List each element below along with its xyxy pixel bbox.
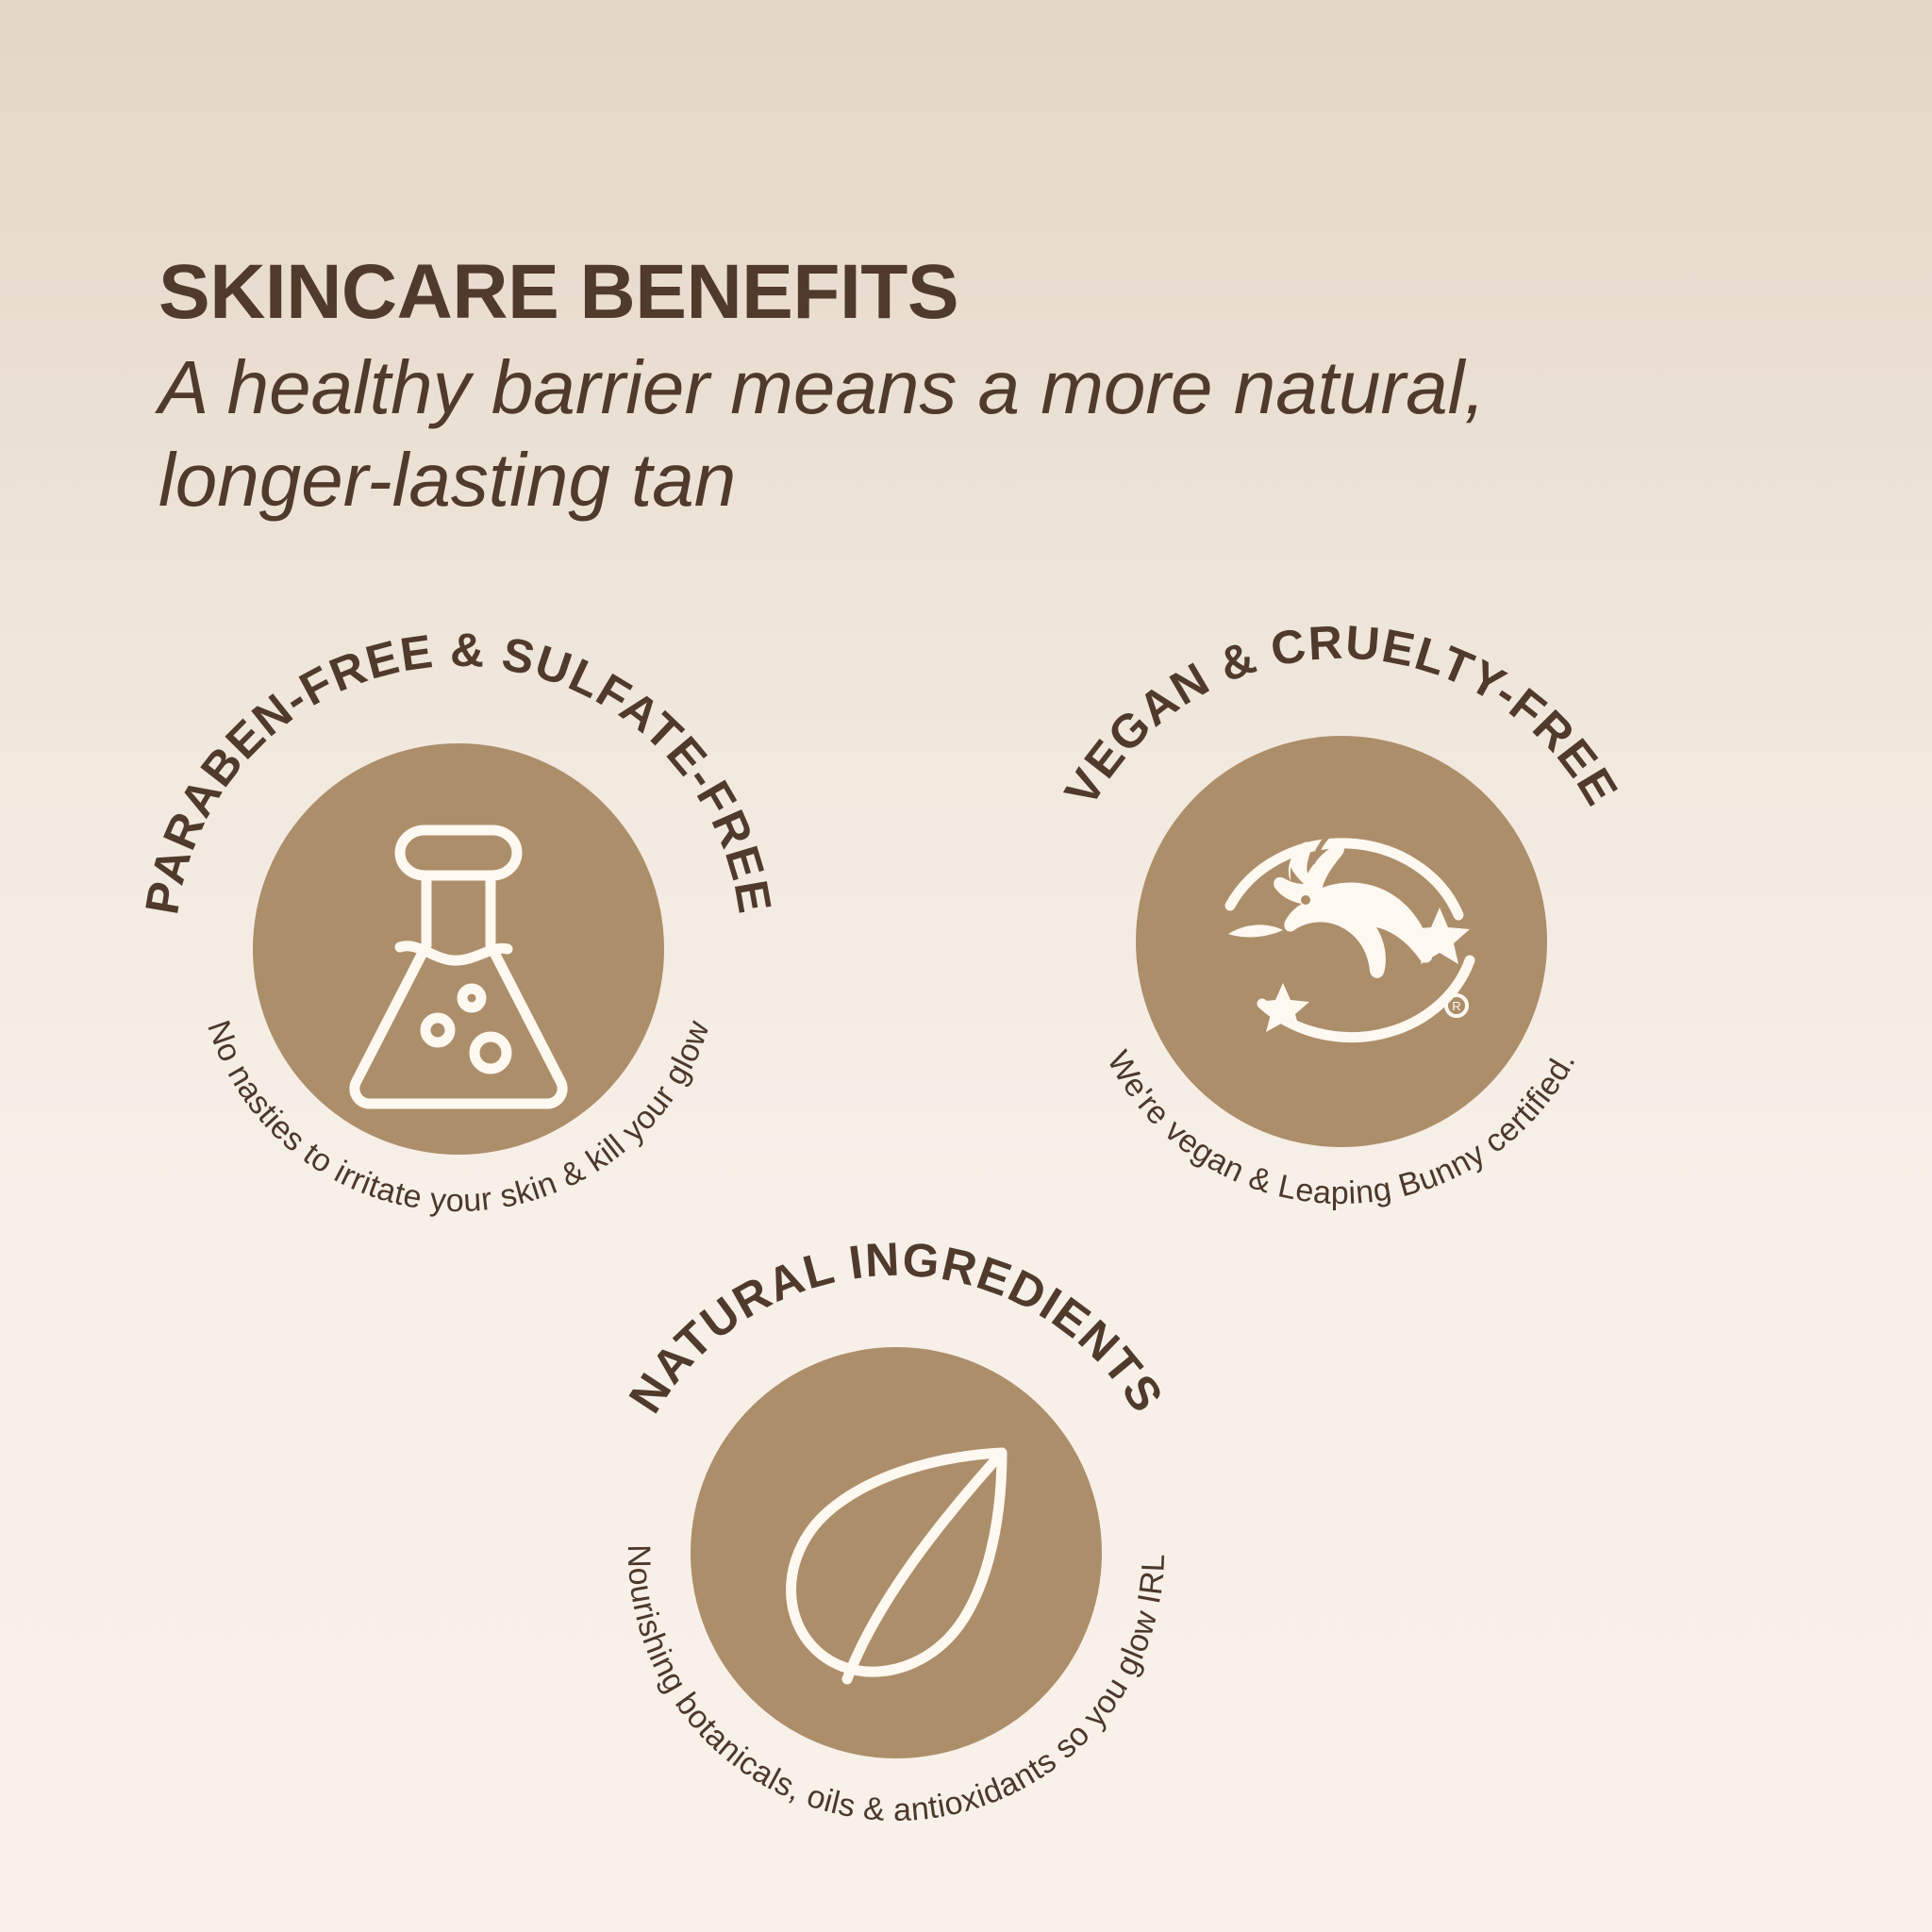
svg-text:R: R	[1452, 999, 1460, 1013]
page-title: SKINCARE BENEFITS	[158, 253, 1574, 332]
badge-disc	[691, 1347, 1102, 1758]
badge-disc	[253, 743, 664, 1155]
header: SKINCARE BENEFITS A healthy barrier mean…	[158, 253, 1574, 526]
badge-natural-ingredients: NATURAL INGREDIENTS Nourishing botanical…	[604, 1260, 1189, 1845]
badge-paraben-free-sulfate-free: PARABEN-FREE & SULFATE-FREE No nasties t…	[166, 657, 751, 1241]
skincare-benefits-panel: SKINCARE BENEFITS A healthy barrier mean…	[0, 0, 1932, 1932]
badge-vegan-cruelty-free: VEGAN & CRUELTY-FREE We're vegan & Leapi…	[1049, 649, 1634, 1234]
page-subtitle: A healthy barrier means a more natural, …	[158, 341, 1574, 526]
badge-disc	[1136, 736, 1547, 1147]
